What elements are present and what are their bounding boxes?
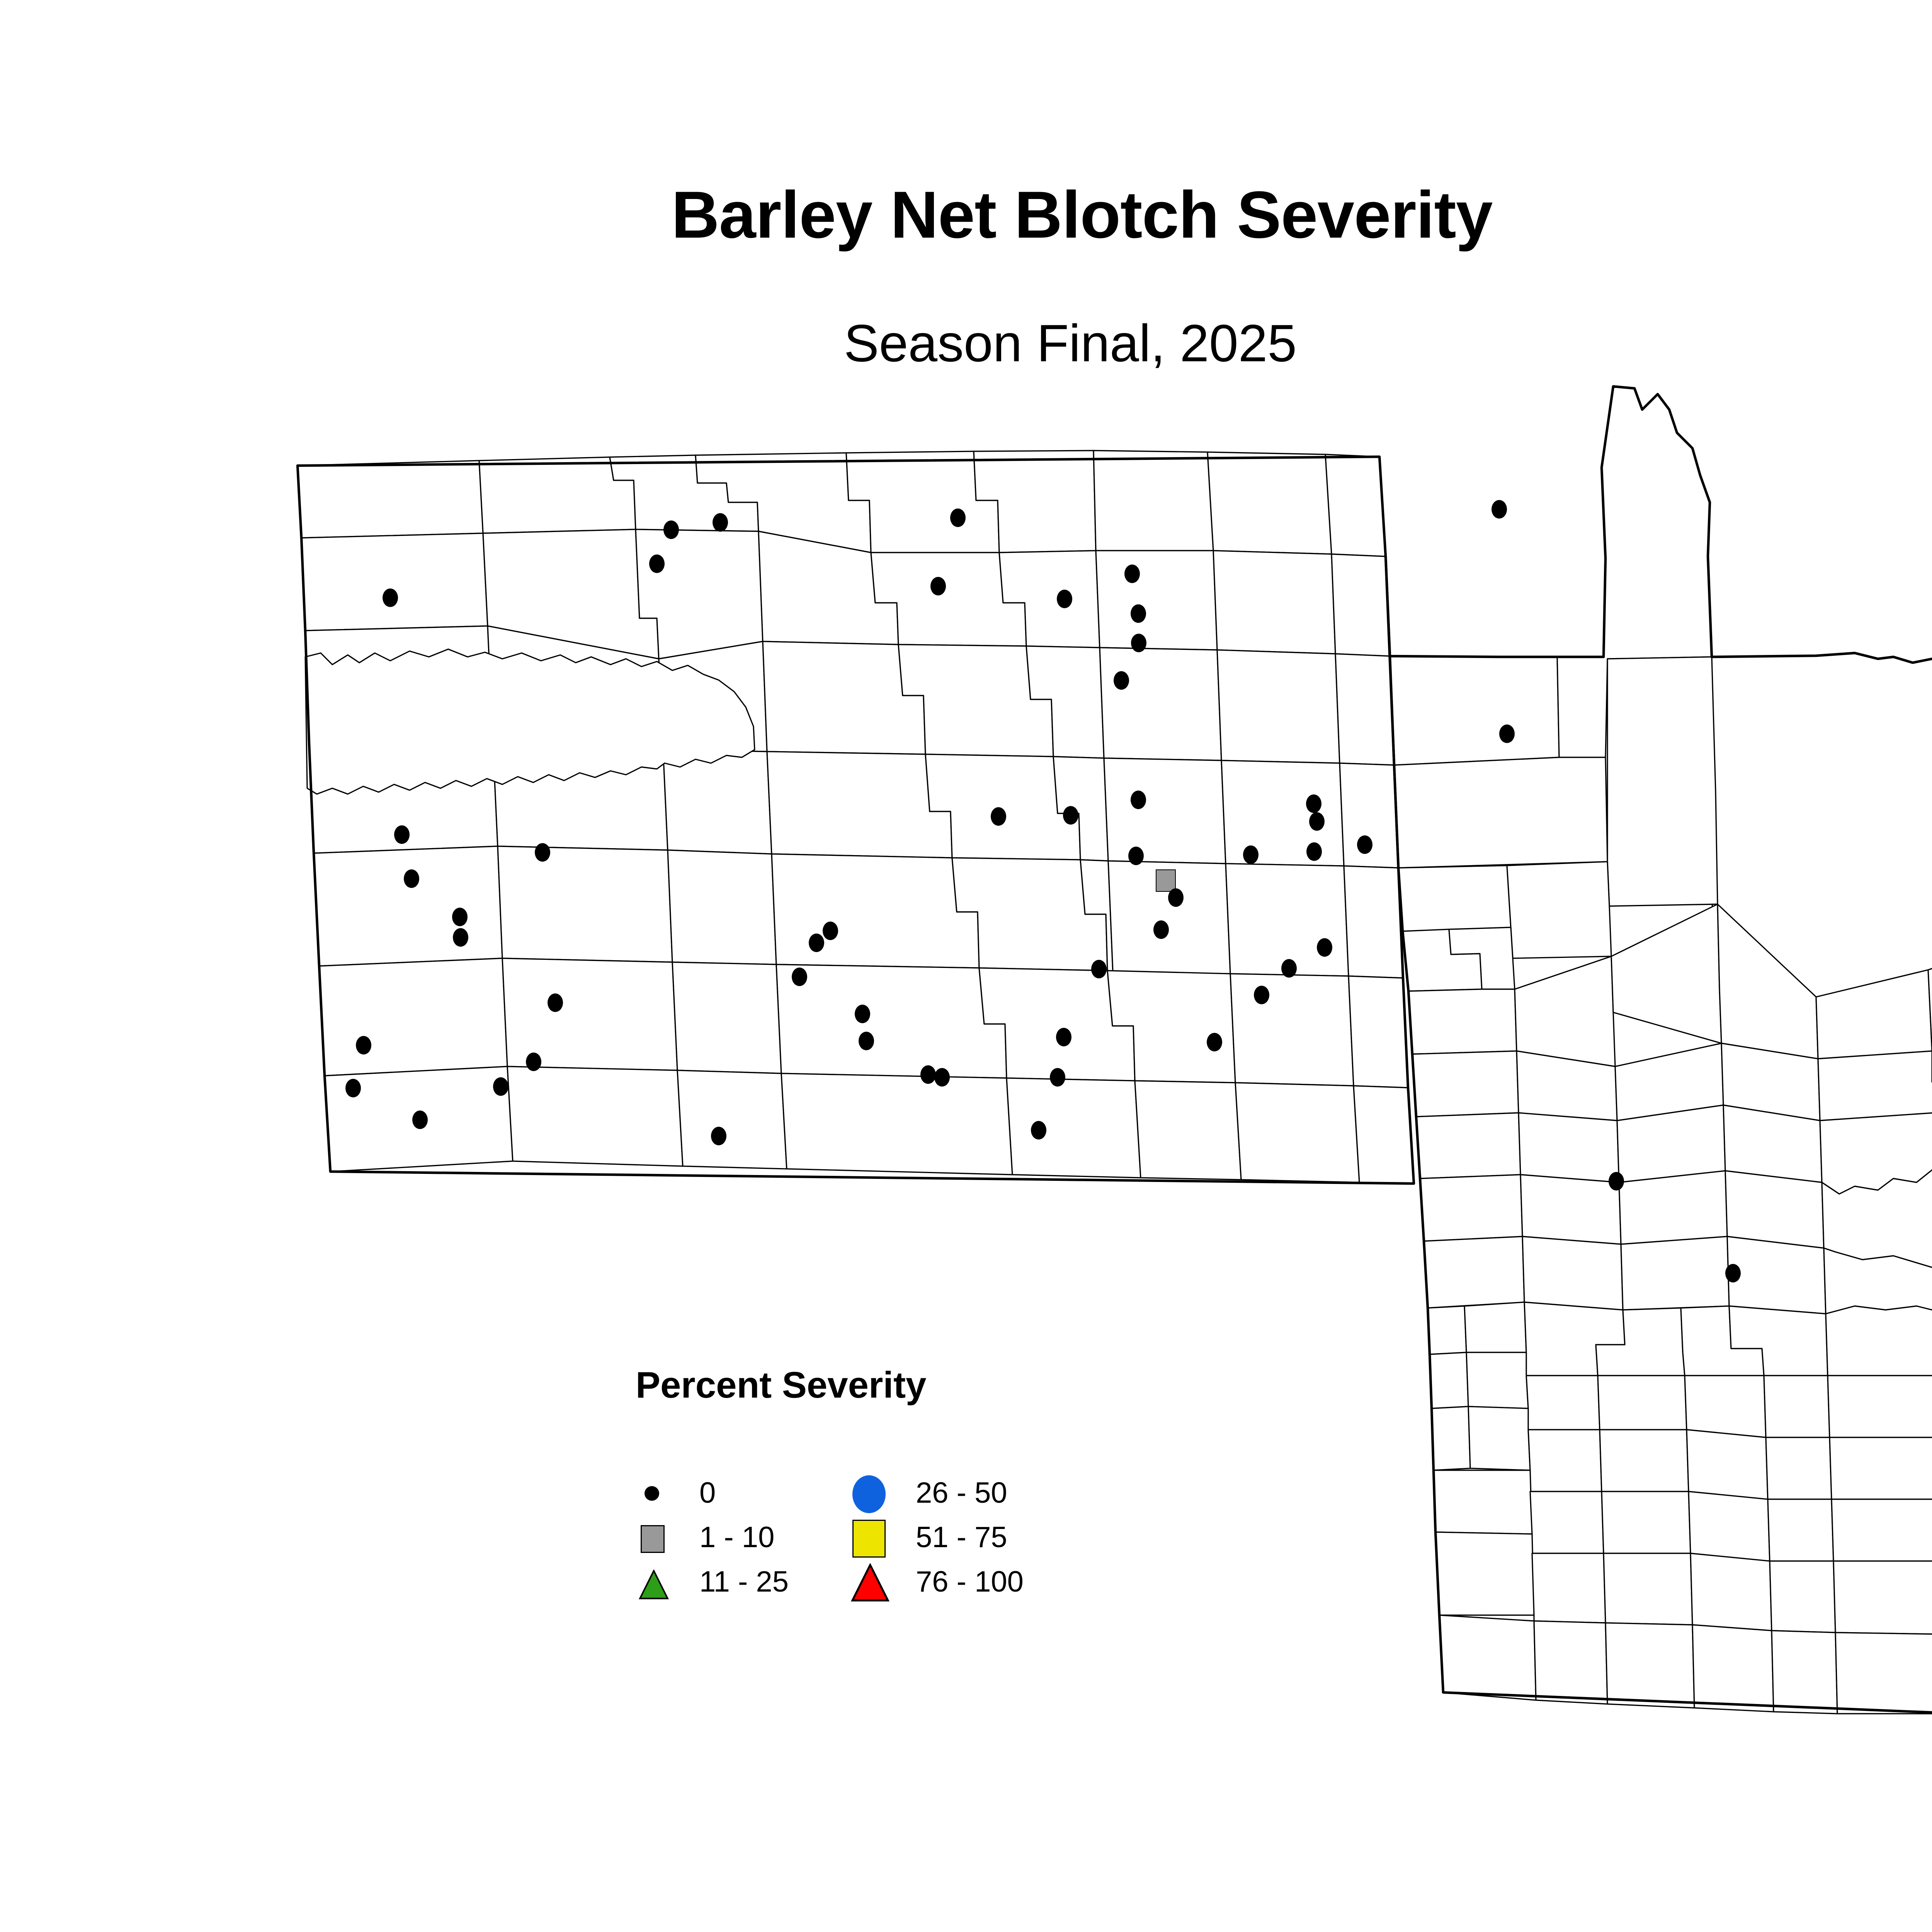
legend-item-label: 76 - 100	[916, 1563, 1024, 1601]
severity-point-0	[711, 1127, 726, 1145]
severity-point-0	[663, 520, 679, 539]
north-dakota-counties	[298, 451, 1414, 1184]
severity-point-0	[412, 1111, 428, 1129]
severity-point-0	[1031, 1121, 1046, 1139]
legend-symbol	[850, 1517, 896, 1559]
legend-title: Percent Severity	[636, 1364, 926, 1406]
severity-point-0	[1131, 791, 1146, 809]
severity-point-0	[356, 1036, 371, 1054]
severity-point-0	[1609, 1172, 1624, 1190]
severity-point-0	[713, 513, 728, 532]
severity-point-0	[930, 577, 946, 595]
legend-symbol	[634, 1472, 680, 1515]
severity-point-0	[1207, 1033, 1222, 1051]
severity-point-0	[1114, 671, 1129, 690]
severity-point-0	[809, 934, 824, 952]
severity-point-0	[649, 554, 665, 573]
severity-point-0	[1091, 960, 1107, 978]
severity-point-0	[1124, 565, 1140, 583]
severity-point-0	[950, 509, 966, 527]
legend-square-icon	[852, 1520, 886, 1558]
legend-symbol	[634, 1561, 680, 1604]
severity-point-0	[1317, 938, 1332, 957]
minnesota-counties	[1390, 386, 1932, 1714]
severity-point-1-10	[1156, 870, 1175, 891]
severity-point-0	[394, 825, 410, 844]
severity-point-0	[1309, 812, 1325, 831]
severity-point-0	[526, 1053, 541, 1071]
severity-point-0	[1131, 604, 1146, 623]
severity-point-0	[1357, 835, 1372, 854]
legend-symbol	[634, 1517, 680, 1559]
severity-point-0	[920, 1065, 936, 1084]
severity-point-0	[1243, 845, 1259, 864]
severity-point-0	[535, 843, 550, 862]
severity-point-0	[452, 908, 468, 926]
severity-point-0	[1168, 888, 1184, 907]
legend-circle-icon	[852, 1475, 886, 1513]
legend-triangle-icon	[850, 1563, 890, 1602]
severity-point-0	[1492, 500, 1507, 519]
legend-item-label: 11 - 25	[699, 1563, 789, 1601]
severity-point-0	[1281, 959, 1297, 978]
severity-point-0	[1131, 634, 1146, 652]
severity-point-0	[345, 1079, 361, 1097]
legend-item-label: 51 - 75	[916, 1518, 1007, 1557]
legend-circle-icon	[645, 1486, 659, 1501]
legend-square-icon	[641, 1525, 665, 1553]
severity-point-0	[1128, 847, 1144, 865]
severity-point-0	[1063, 806, 1078, 825]
severity-point-0	[1056, 1028, 1071, 1046]
severity-point-0	[493, 1077, 509, 1096]
legend-item-label: 1 - 10	[699, 1518, 774, 1557]
severity-point-0	[1725, 1264, 1741, 1282]
legend-item-label: 26 - 50	[916, 1474, 1007, 1512]
severity-point-0	[991, 807, 1006, 826]
severity-point-0	[1153, 920, 1169, 939]
legend: Percent Severity 01 - 1011 - 25 26 - 505…	[634, 1352, 1175, 1646]
legend-triangle-icon	[638, 1570, 669, 1600]
severity-point-0	[792, 968, 807, 986]
legend-symbol	[850, 1472, 896, 1515]
severity-point-0	[383, 588, 398, 607]
severity-point-0	[1499, 724, 1515, 743]
severity-point-0	[823, 922, 838, 940]
severity-point-0	[859, 1032, 874, 1050]
severity-point-0	[1057, 590, 1072, 608]
severity-point-0	[1306, 794, 1321, 813]
severity-point-0	[453, 928, 468, 947]
legend-item-label: 0	[699, 1474, 716, 1512]
legend-symbol	[850, 1561, 896, 1604]
severity-point-0	[404, 869, 419, 888]
map-canvas: Barley Net Blotch Severity Season Final,…	[0, 0, 1932, 1932]
severity-point-0	[548, 993, 563, 1012]
severity-point-0	[1306, 842, 1322, 861]
severity-point-0	[1050, 1068, 1065, 1087]
severity-point-0	[855, 1005, 870, 1023]
severity-point-0	[934, 1068, 950, 1087]
severity-point-0	[1254, 986, 1269, 1004]
